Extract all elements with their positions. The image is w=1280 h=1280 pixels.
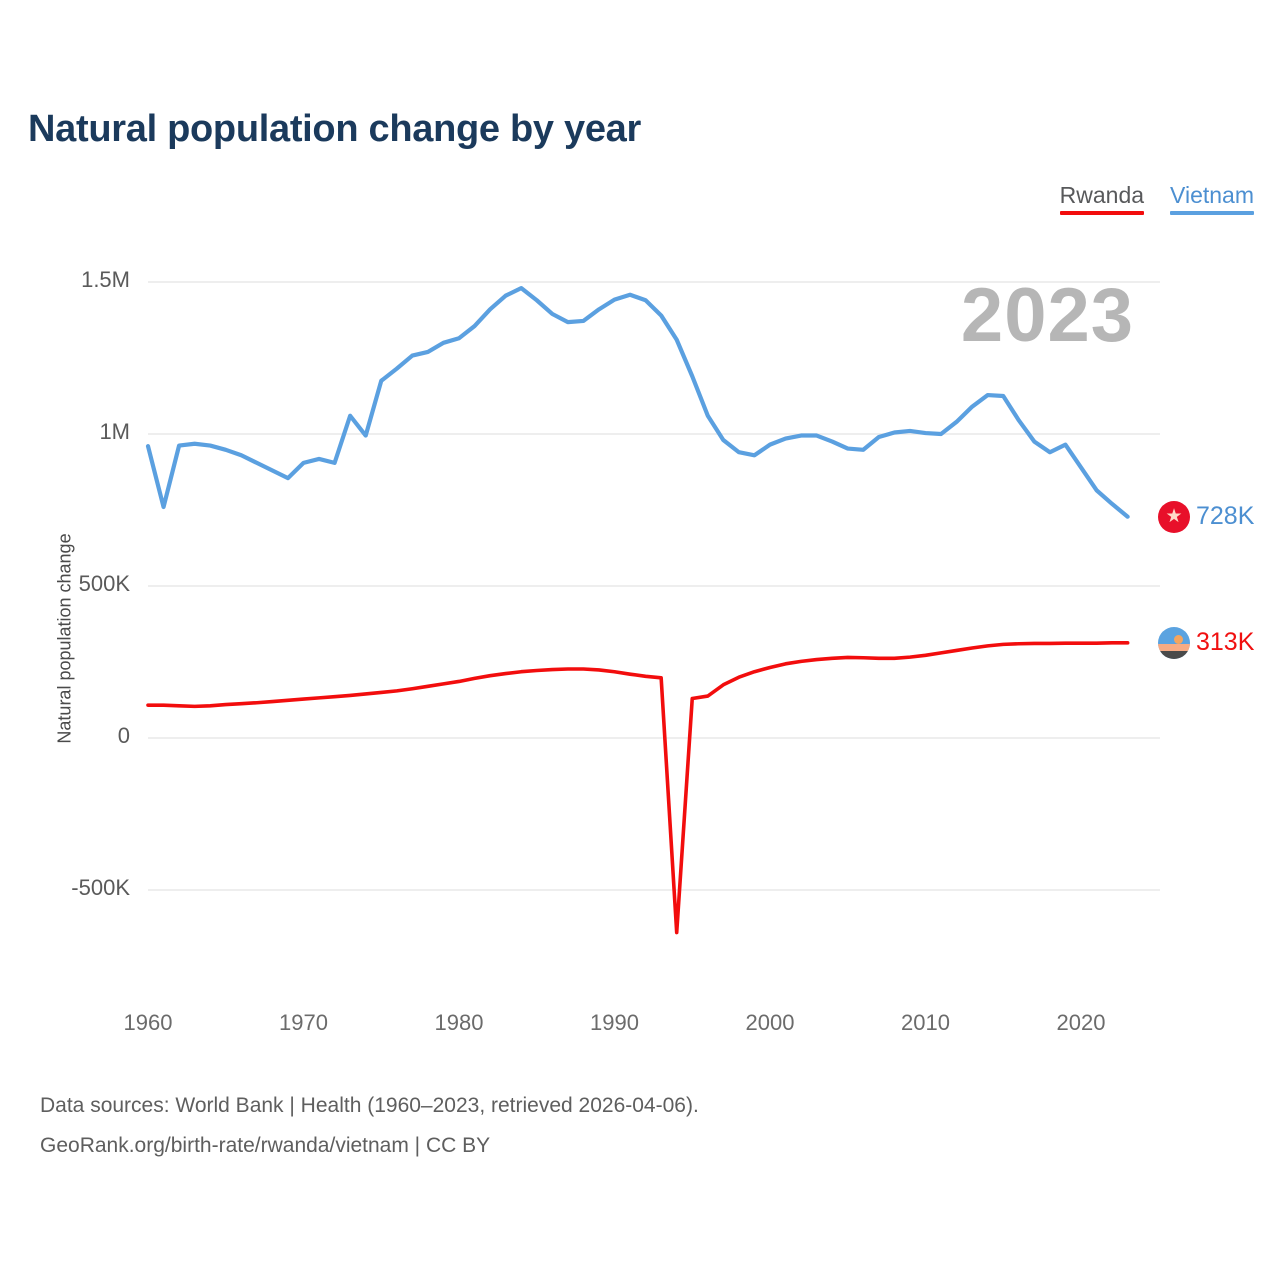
legend-item-vietnam[interactable]: Vietnam bbox=[1170, 182, 1254, 215]
end-value-rwanda: 313K bbox=[1196, 628, 1254, 657]
legend-rule-rwanda bbox=[1060, 211, 1144, 215]
rwanda-flag-icon bbox=[1158, 627, 1190, 659]
year-watermark: 2023 bbox=[961, 272, 1134, 359]
legend-label-rwanda: Rwanda bbox=[1060, 182, 1144, 208]
footer: Data sources: World Bank | Health (1960–… bbox=[40, 1086, 699, 1166]
chart-page: Natural population change by year Rwanda… bbox=[0, 0, 1280, 1280]
y-axis-title: Natural population change bbox=[55, 514, 76, 764]
rwanda-flag-band-green bbox=[1158, 651, 1190, 658]
y-axis-tick-label: -500K bbox=[10, 875, 130, 901]
legend-item-rwanda[interactable]: Rwanda bbox=[1060, 182, 1144, 215]
rwanda-sun-icon bbox=[1174, 635, 1183, 644]
y-axis-tick-label: 1.5M bbox=[10, 267, 130, 293]
footer-attribution-line[interactable]: GeoRank.org/birth-rate/rwanda/vietnam | … bbox=[40, 1126, 699, 1166]
x-axis-tick-label: 1970 bbox=[254, 1010, 354, 1036]
chart-legend: Rwanda Vietnam bbox=[1060, 182, 1254, 215]
x-axis-tick-label: 2010 bbox=[876, 1010, 976, 1036]
series-line-rwanda bbox=[148, 643, 1128, 933]
end-label-rwanda: 313K bbox=[1158, 627, 1254, 659]
x-axis-tick-label: 1990 bbox=[565, 1010, 665, 1036]
x-axis-tick-label: 2020 bbox=[1031, 1010, 1131, 1036]
x-axis-tick-label: 1960 bbox=[98, 1010, 198, 1036]
vietnam-flag-icon: ★ bbox=[1158, 501, 1190, 533]
page-title: Natural population change by year bbox=[28, 108, 641, 151]
end-label-vietnam: ★ 728K bbox=[1158, 501, 1254, 533]
end-value-vietnam: 728K bbox=[1196, 502, 1254, 531]
legend-label-vietnam: Vietnam bbox=[1170, 182, 1254, 208]
x-axis-tick-label: 2000 bbox=[720, 1010, 820, 1036]
y-axis-tick-label: 1M bbox=[10, 419, 130, 445]
x-axis-tick-label: 1980 bbox=[409, 1010, 509, 1036]
rwanda-flag-band-yellow bbox=[1158, 644, 1190, 651]
footer-sources-line: Data sources: World Bank | Health (1960–… bbox=[40, 1086, 699, 1126]
legend-rule-vietnam bbox=[1170, 211, 1254, 215]
